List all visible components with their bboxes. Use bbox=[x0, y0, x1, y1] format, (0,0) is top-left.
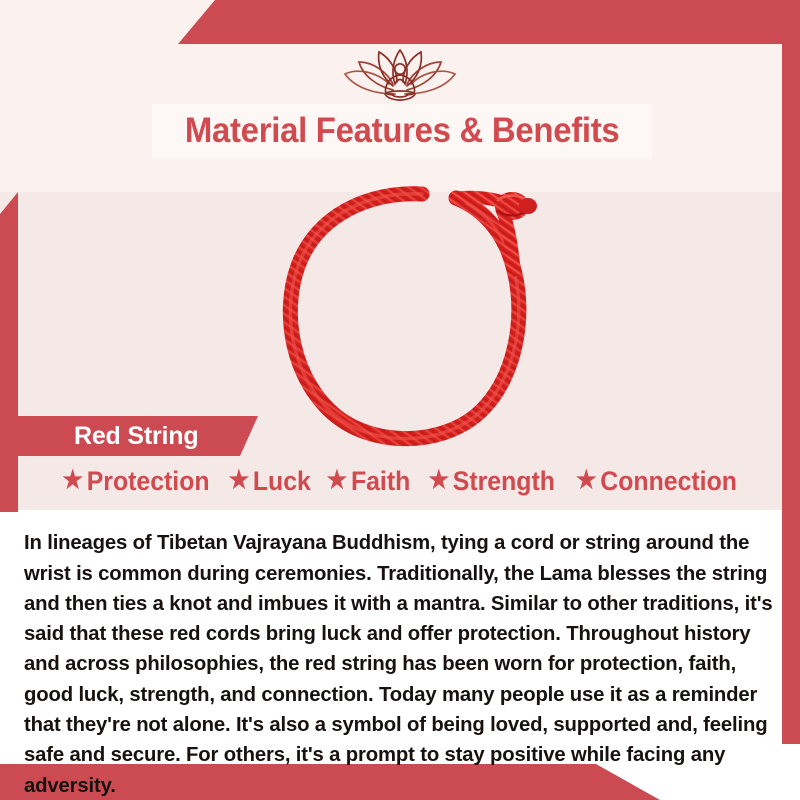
benefit-label: Luck bbox=[252, 466, 310, 497]
benefit-item-faith: ★ Faith bbox=[327, 466, 411, 497]
description-text: In lineages of Tibetan Vajrayana Buddhis… bbox=[24, 528, 776, 800]
page-title: Material Features & Benefits bbox=[185, 111, 620, 151]
product-infographic: BUDDHA STONES Material Features & Benefi… bbox=[0, 0, 800, 800]
lotus-meditation-icon bbox=[325, 44, 475, 106]
material-label-banner: Red String bbox=[18, 416, 258, 456]
material-label-text: Red String bbox=[74, 422, 198, 451]
benefit-item-luck: ★ Luck bbox=[228, 466, 310, 497]
star-icon: ★ bbox=[428, 468, 449, 493]
benefits-list: ★ Protection ★ Luck ★ Faith ★ Strength ★… bbox=[0, 466, 800, 497]
benefit-label: Connection bbox=[601, 466, 738, 497]
benefit-item-connection: ★ Connection bbox=[576, 466, 737, 497]
benefit-label: Strength bbox=[453, 466, 555, 497]
title-banner: Material Features & Benefits bbox=[152, 104, 652, 158]
star-icon: ★ bbox=[327, 468, 348, 493]
star-icon: ★ bbox=[62, 468, 83, 493]
red-string-bracelet-illustration bbox=[250, 166, 580, 466]
benefit-label: Protection bbox=[86, 466, 209, 497]
benefit-item-protection: ★ Protection bbox=[62, 466, 209, 497]
benefit-label: Faith bbox=[351, 466, 410, 497]
benefit-item-strength: ★ Strength bbox=[428, 466, 554, 497]
decor-band-right bbox=[782, 44, 800, 744]
bracelet-knot bbox=[495, 192, 537, 220]
product-image bbox=[250, 166, 580, 466]
decor-band-left bbox=[0, 192, 18, 512]
star-icon: ★ bbox=[228, 468, 249, 493]
star-icon: ★ bbox=[576, 468, 597, 493]
